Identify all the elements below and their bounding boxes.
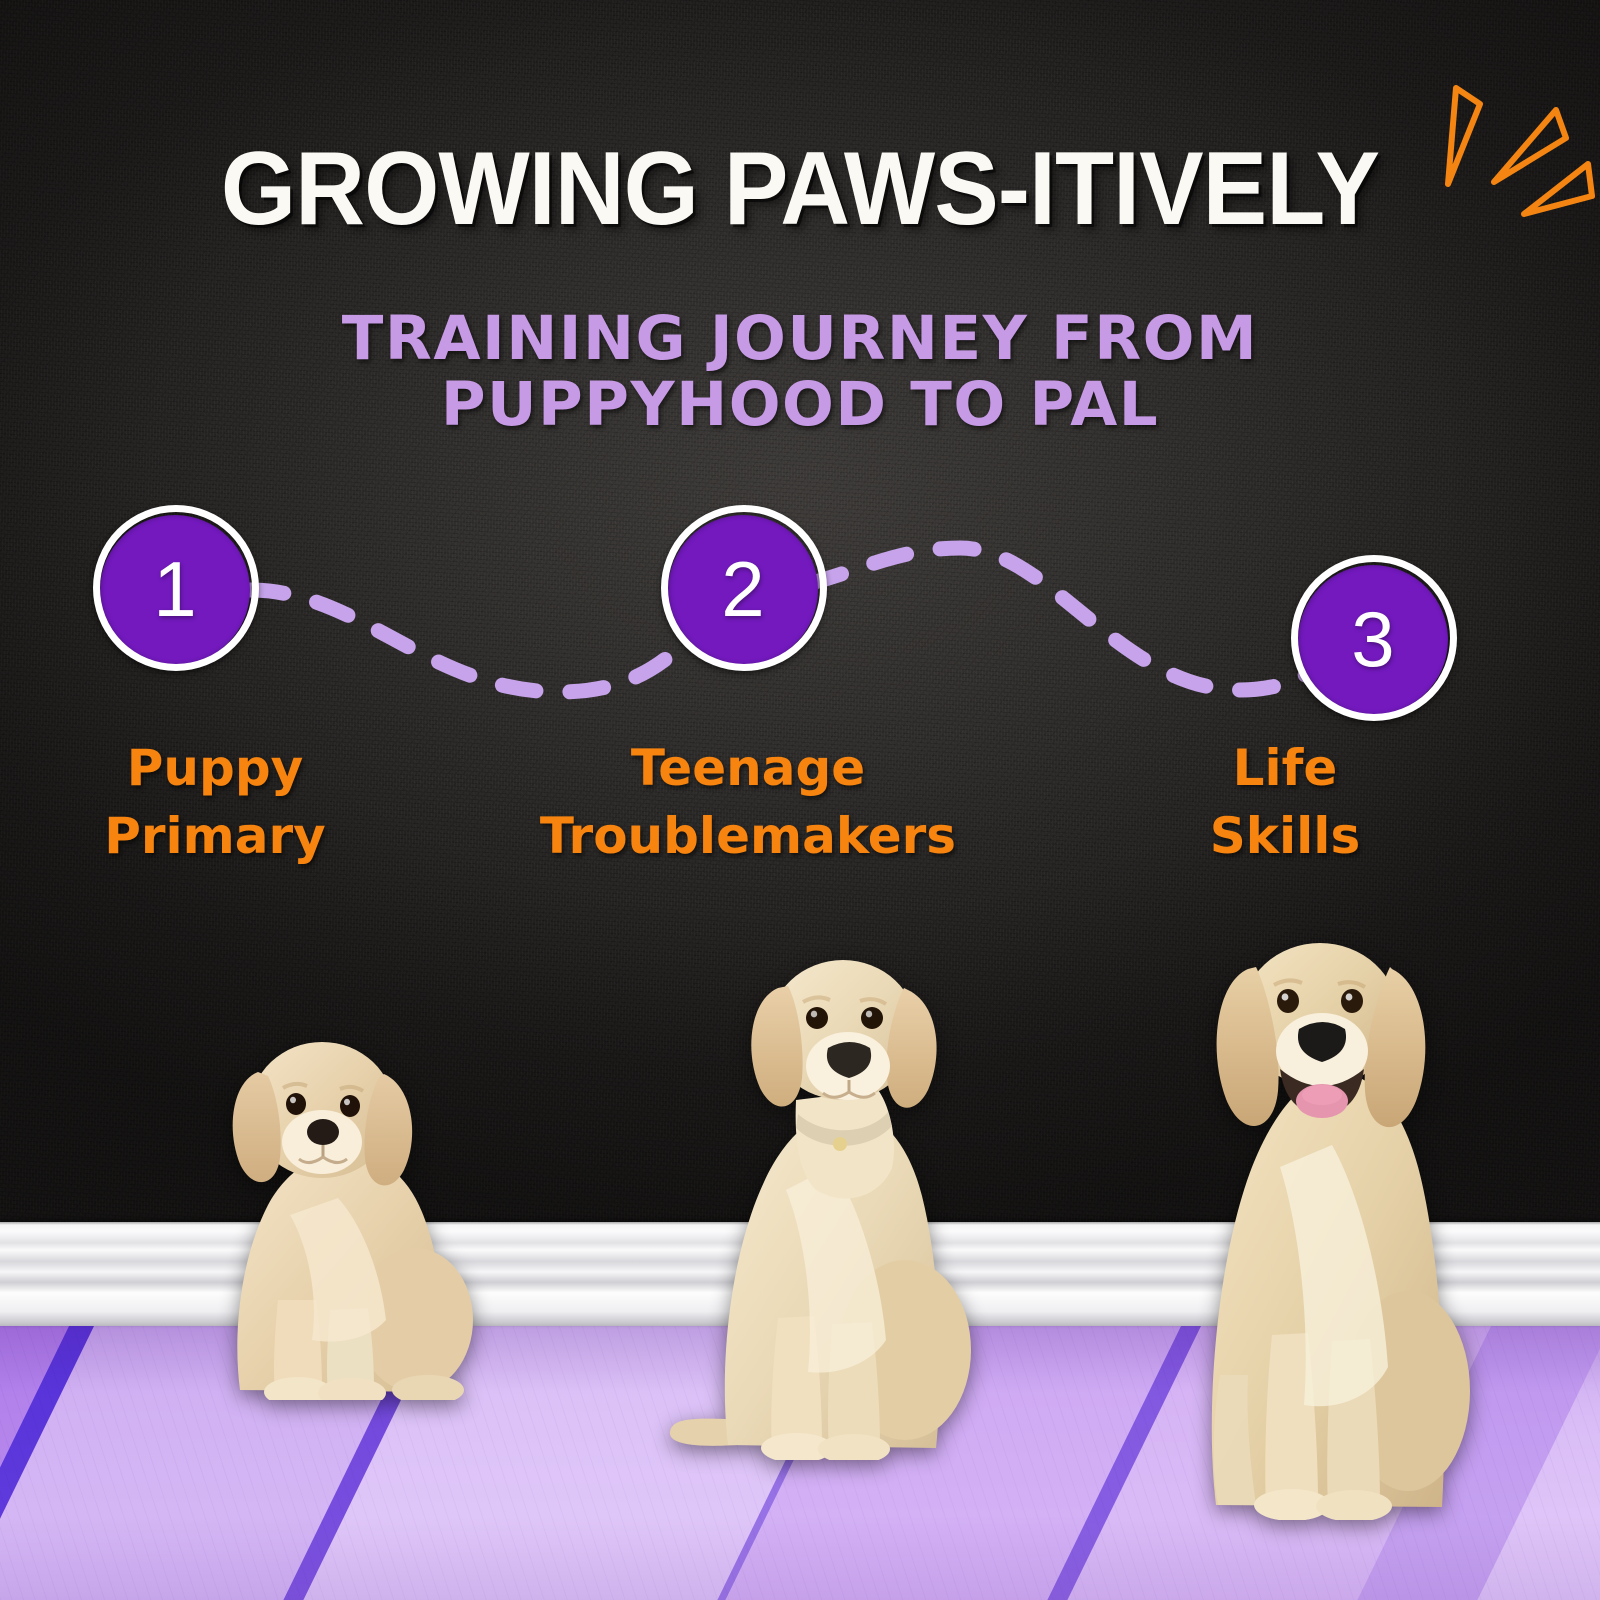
subtitle-line-2: PUPPYHOOD TO PAL — [0, 372, 1600, 438]
step-3-label-line-1: Life — [1055, 735, 1515, 803]
step-1-circle[interactable]: 1 — [100, 515, 250, 665]
step-2-label: Teenage Troublemakers — [518, 735, 978, 870]
step-1-label: Puppy Primary — [0, 735, 445, 870]
page-subtitle: TRAINING JOURNEY FROM PUPPYHOOD TO PAL — [0, 306, 1600, 438]
step-3-circle[interactable]: 3 — [1298, 565, 1448, 715]
dog-puppy — [170, 1000, 500, 1400]
step-1-number: 1 — [153, 550, 196, 628]
timeline-step-2[interactable]: 2 — [668, 515, 818, 665]
step-1-label-line-1: Puppy — [0, 735, 445, 803]
step-2-label-line-1: Teenage — [518, 735, 978, 803]
subtitle-line-1: TRAINING JOURNEY FROM — [0, 306, 1600, 372]
dog-adult — [1160, 905, 1490, 1520]
step-2-label-line-2: Troublemakers — [518, 803, 978, 871]
poster-canvas: GROWING PAWS-ITIVELY TRAINING JOURNEY FR… — [0, 0, 1600, 1600]
timeline-step-1[interactable]: 1 — [100, 515, 250, 665]
timeline-step-3[interactable]: 3 — [1298, 565, 1448, 715]
step-1-label-line-2: Primary — [0, 803, 445, 871]
page-title: GROWING PAWS-ITIVELY — [56, 137, 1544, 241]
step-3-label: Life Skills — [1055, 735, 1515, 870]
step-2-number: 2 — [721, 550, 764, 628]
step-2-circle[interactable]: 2 — [668, 515, 818, 665]
dog-adolescent — [600, 920, 1000, 1460]
step-3-label-line-2: Skills — [1055, 803, 1515, 871]
step-3-number: 3 — [1351, 600, 1394, 678]
